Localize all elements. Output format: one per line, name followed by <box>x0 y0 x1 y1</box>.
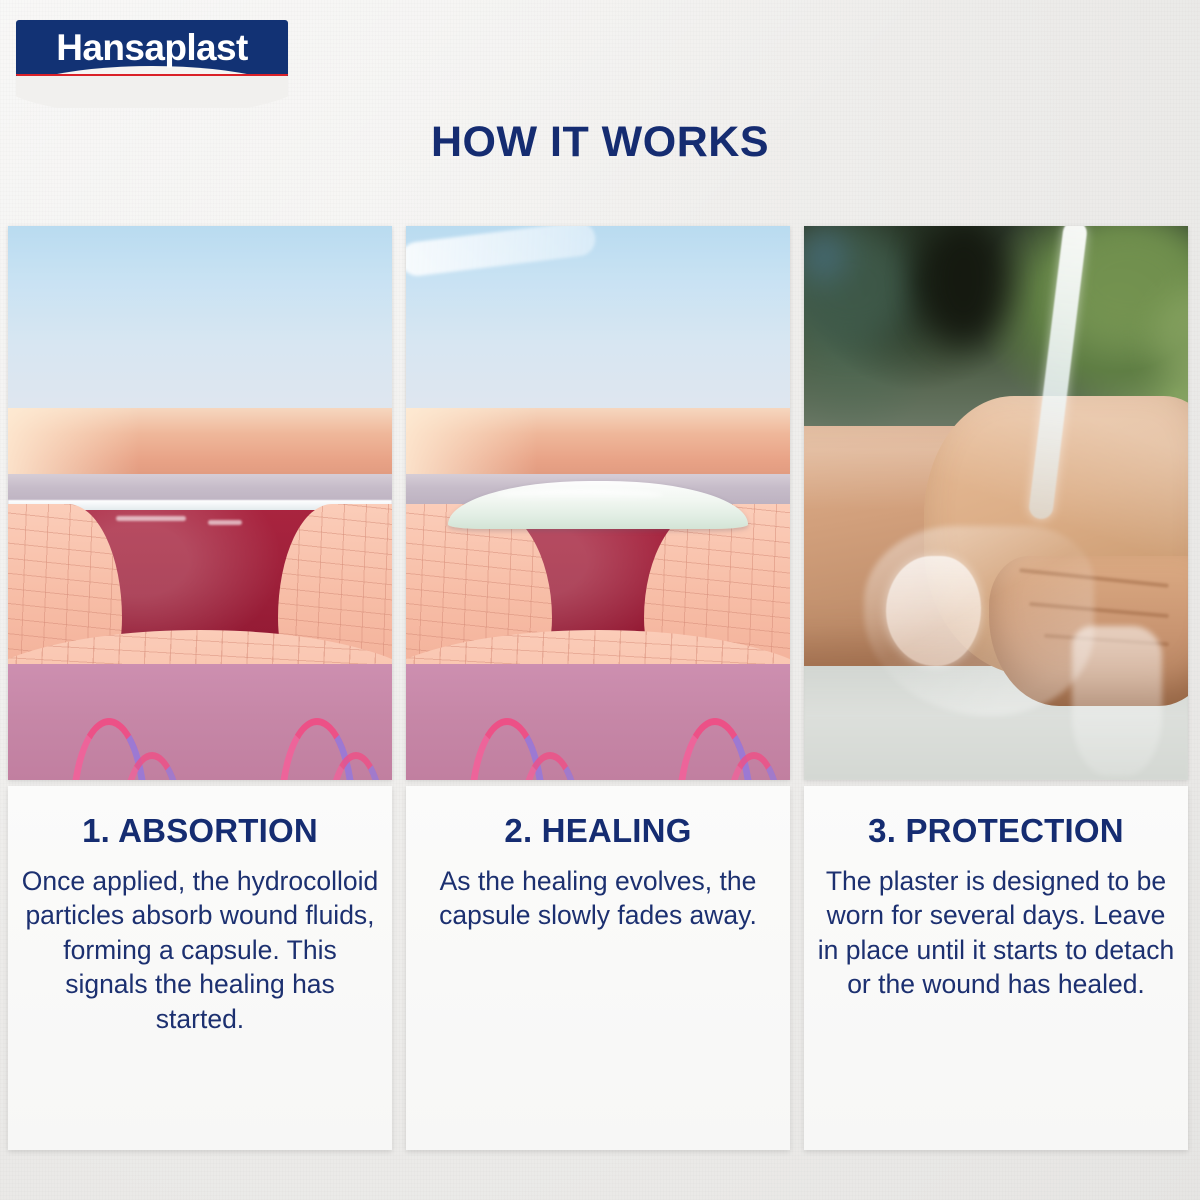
blood-highlight <box>116 516 186 521</box>
sky-background <box>8 226 392 412</box>
caption-card-absorption: 1. ABSORTION Once applied, the hydrocoll… <box>8 786 392 1150</box>
step-heading: 3. PROTECTION <box>816 812 1176 850</box>
hansaplast-logo: Hansaplast <box>16 20 288 108</box>
logo-red-swoosh <box>16 74 288 108</box>
light-streak <box>406 226 597 278</box>
caption-card-healing: 2. HEALING As the healing evolves, the c… <box>406 786 790 1150</box>
figure-skin-cross-section-capsule <box>406 226 790 780</box>
caption-card-protection: 3. PROTECTION The plaster is designed to… <box>804 786 1188 1150</box>
dermis-layer <box>406 664 790 780</box>
logo-wordmark: Hansaplast <box>16 20 288 76</box>
figure-hand-washing-photo <box>804 226 1188 780</box>
step-body: Once applied, the hydrocolloid particles… <box>20 864 380 1036</box>
bokeh-blur <box>804 231 844 281</box>
skin-surface-layer <box>406 408 790 476</box>
step-body: As the healing evolves, the capsule slow… <box>418 864 778 933</box>
step-card-absorption: 1. ABSORTION Once applied, the hydrocoll… <box>8 226 392 1150</box>
step-heading: 1. ABSORTION <box>20 812 380 850</box>
skin-surface-layer <box>8 408 392 476</box>
step-card-healing: 2. HEALING As the healing evolves, the c… <box>406 226 790 1150</box>
blood-highlight <box>208 520 242 525</box>
water-splash <box>1072 626 1162 776</box>
step-card-protection: 3. PROTECTION The plaster is designed to… <box>804 226 1188 1150</box>
dermis-layer <box>8 664 392 780</box>
step-heading: 2. HEALING <box>418 812 778 850</box>
sky-background <box>406 226 790 412</box>
figure-skin-cross-section-open-wound <box>8 226 392 780</box>
steps-container: 1. ABSORTION Once applied, the hydrocoll… <box>0 226 1200 1156</box>
step-body: The plaster is designed to be worn for s… <box>816 864 1176 1002</box>
page-title: HOW IT WORKS <box>0 118 1200 167</box>
